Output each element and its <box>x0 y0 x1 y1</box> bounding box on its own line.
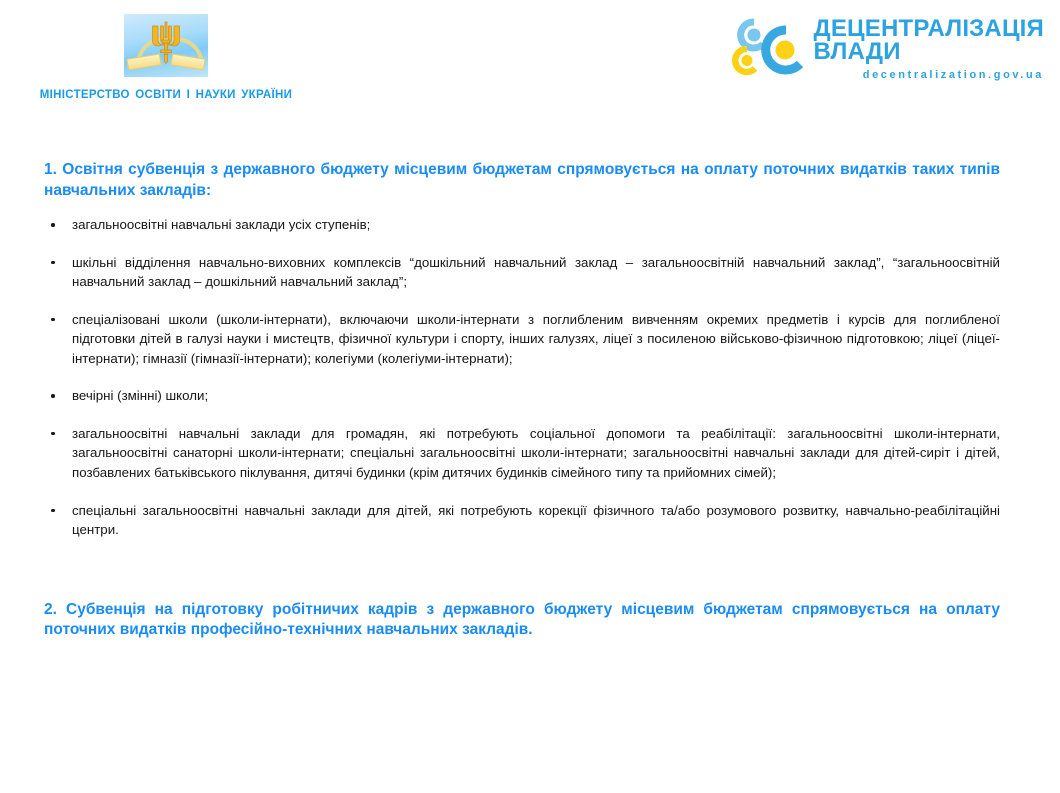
list-item-text: спеціалізовані школи (школи-інтернати), … <box>72 312 1000 366</box>
section-1-bullet-list: загальноосвітні навчальні заклади усіх с… <box>44 215 1000 539</box>
list-item-text: вечірні (змінні) школи; <box>72 388 208 403</box>
section-1-heading: 1. Освітня субвенція з державного бюджет… <box>44 160 1000 201</box>
slide-content: 1. Освітня субвенція з державного бюджет… <box>44 160 1000 641</box>
list-item: шкільні відділення навчально-виховних ко… <box>44 253 1000 292</box>
decentralization-wordmark: ДЕЦЕНТРАЛІЗАЦІЯ ВЛАДИ decentralization.g… <box>814 16 1044 81</box>
section-2-heading: 2. Субвенція на підготовку робітничих ка… <box>44 600 1000 641</box>
list-item: загальноосвітні навчальні заклади для гр… <box>44 424 1000 483</box>
ministry-logo-block: МІНІСТЕРСТВО ОСВІТИ І НАУКИ УКРАЇНИ <box>16 14 316 101</box>
ministry-name-label: МІНІСТЕРСТВО ОСВІТИ І НАУКИ УКРАЇНИ <box>16 89 316 101</box>
decentralization-url-label[interactable]: decentralization.gov.ua <box>814 69 1044 81</box>
list-item-text: спеціальні загальноосвітні навчальні зак… <box>72 503 1000 538</box>
decentralization-logo-block: ДЕЦЕНТРАЛІЗАЦІЯ ВЛАДИ decentralization.g… <box>732 16 1044 81</box>
list-item: загальноосвітні навчальні заклади усіх с… <box>44 215 1000 235</box>
list-item: вечірні (змінні) школи; <box>44 386 1000 406</box>
slide-header: МІНІСТЕРСТВО ОСВІТИ І НАУКИ УКРАЇНИ ДЕЦЕ… <box>0 0 1060 120</box>
decentralization-circles-logo-icon <box>732 16 810 78</box>
ukraine-trident-emblem-icon <box>124 14 208 77</box>
section-spacer <box>44 540 1000 600</box>
list-item-text: загальноосвітні навчальні заклади для гр… <box>72 426 1000 480</box>
list-item: спеціалізовані школи (школи-інтернати), … <box>44 310 1000 369</box>
list-item-text: загальноосвітні навчальні заклади усіх с… <box>72 217 370 232</box>
decentralization-title-line2: ВЛАДИ <box>814 41 1044 64</box>
list-item: спеціальні загальноосвітні навчальні зак… <box>44 501 1000 540</box>
decentralization-title: ДЕЦЕНТРАЛІЗАЦІЯ ВЛАДИ <box>814 18 1044 64</box>
list-item-text: шкільні відділення навчально-виховних ко… <box>72 255 1000 290</box>
trident-glyph-icon <box>149 20 183 64</box>
